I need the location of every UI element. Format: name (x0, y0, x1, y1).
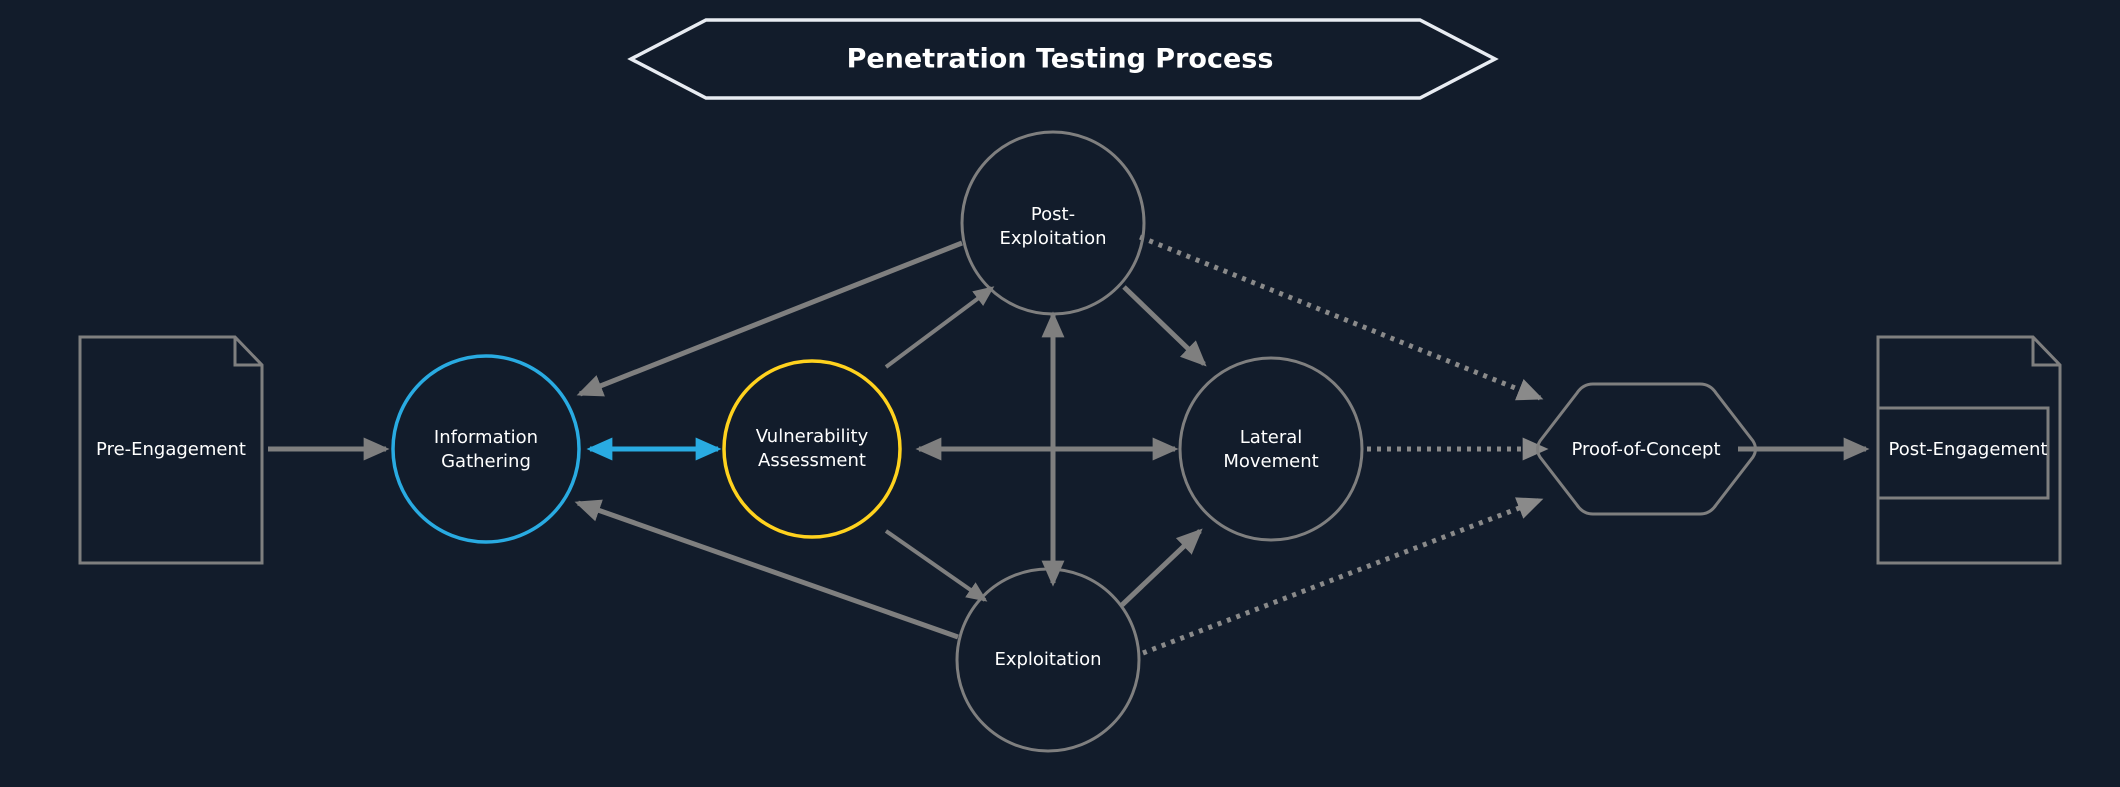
vulnerability-assessment-label-line1: Vulnerability (756, 426, 869, 447)
penetration-testing-process-diagram: Penetration Testing Process (0, 0, 2120, 787)
information-gathering-label-line2: Gathering (441, 451, 531, 472)
information-gathering-label-line1: Information (434, 427, 538, 448)
edge-exploit-to-lateral (1122, 531, 1200, 605)
banner-title-text: Penetration Testing Process (847, 44, 1274, 75)
vulnerability-assessment-circle-shape (724, 361, 900, 537)
exploitation-label: Exploitation (994, 649, 1101, 670)
node-lateral-movement[interactable]: Lateral Movement (1180, 358, 1362, 540)
edge-vuln-to-exploit (886, 531, 985, 600)
lateral-movement-label-line2: Movement (1223, 451, 1318, 472)
node-information-gathering[interactable]: Information Gathering (393, 356, 579, 542)
edge-postexp-to-poc (1140, 237, 1540, 398)
edge-exploit-to-poc (1143, 500, 1540, 653)
proof-of-concept-label: Proof-of-Concept (1571, 439, 1720, 460)
node-pre-engagement[interactable]: Pre-Engagement (80, 337, 262, 563)
information-gathering-circle-shape (393, 356, 579, 542)
title-banner: Penetration Testing Process (631, 20, 1495, 98)
node-post-exploitation[interactable]: Post- Exploitation (962, 132, 1144, 314)
pre-engagement-label: Pre-Engagement (96, 439, 246, 460)
post-engagement-label: Post-Engagement (1889, 439, 2048, 460)
post-exploitation-label-line1: Post- (1031, 204, 1075, 225)
post-exploitation-label-line2: Exploitation (999, 228, 1106, 249)
node-exploitation[interactable]: Exploitation (957, 569, 1139, 751)
edge-vuln-to-postexp (886, 288, 992, 367)
diagram-canvas: Penetration Testing Process (0, 0, 2120, 787)
node-post-engagement[interactable]: Post-Engagement (1878, 337, 2060, 563)
lateral-movement-circle-shape (1180, 358, 1362, 540)
vulnerability-assessment-label-line2: Assessment (758, 450, 866, 471)
edge-exploit-to-info (578, 503, 958, 637)
node-vulnerability-assessment[interactable]: Vulnerability Assessment (724, 361, 900, 537)
node-proof-of-concept[interactable]: Proof-of-Concept (1538, 384, 1756, 514)
lateral-movement-label-line1: Lateral (1240, 427, 1303, 448)
edge-postexp-to-lateral (1124, 287, 1204, 364)
